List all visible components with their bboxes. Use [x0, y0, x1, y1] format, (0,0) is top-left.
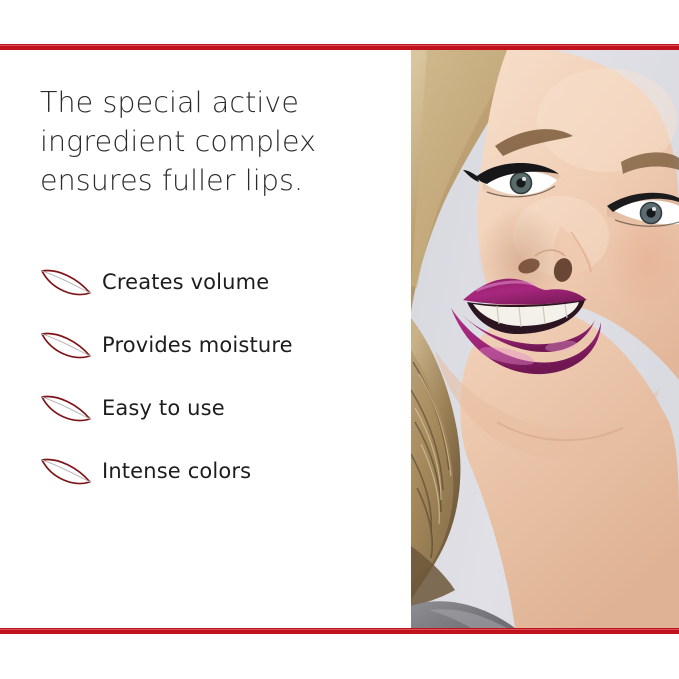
- benefits-list: Creates volume Provides moisture: [38, 250, 398, 502]
- leaf-icon: [38, 388, 94, 428]
- leaf-icon: [38, 325, 94, 365]
- bottom-accent-rule: [0, 628, 679, 634]
- benefit-label: Easy to use: [102, 396, 225, 420]
- headline: The special active ingredient complex en…: [40, 83, 370, 200]
- top-accent-rule: [0, 44, 679, 50]
- leaf-icon: [38, 451, 94, 491]
- list-item: Provides moisture: [38, 313, 398, 376]
- leaf-icon: [38, 262, 94, 302]
- list-item: Creates volume: [38, 250, 398, 313]
- benefit-label: Creates volume: [102, 270, 269, 294]
- list-item: Easy to use: [38, 376, 398, 439]
- benefit-label: Provides moisture: [102, 333, 293, 357]
- rule-highlight: [0, 45, 679, 46]
- benefit-label: Intense colors: [102, 459, 251, 483]
- lipstick-product-banner: The special active ingredient complex en…: [0, 0, 679, 679]
- rule-highlight: [0, 629, 679, 630]
- model-face-photo: [411, 50, 679, 628]
- list-item: Intense colors: [38, 439, 398, 502]
- content-panel: The special active ingredient complex en…: [0, 50, 411, 628]
